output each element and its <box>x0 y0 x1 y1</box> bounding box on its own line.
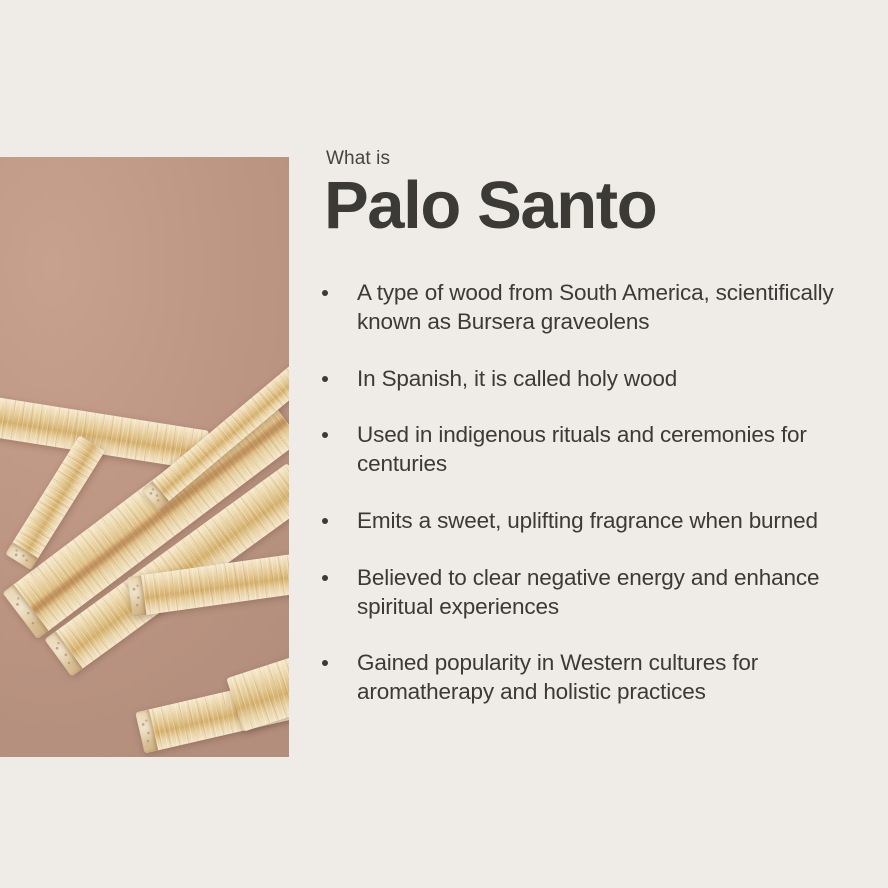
list-item: Used in indigenous rituals and ceremonie… <box>322 421 842 479</box>
palo-santo-photo <box>0 157 289 757</box>
list-item: A type of wood from South America, scien… <box>322 279 842 337</box>
list-item-text: Emits a sweet, uplifting fragrance when … <box>357 508 818 533</box>
infographic-canvas: What is Palo Santo A type of wood from S… <box>0 0 888 888</box>
bullet-dot-icon <box>322 376 328 382</box>
list-item: Emits a sweet, uplifting fragrance when … <box>322 507 842 536</box>
bullet-dot-icon <box>322 660 328 666</box>
list-item: In Spanish, it is called holy wood <box>322 365 842 394</box>
bullet-dot-icon <box>322 432 328 438</box>
list-item: Believed to clear negative energy and en… <box>322 564 842 622</box>
content-column: What is Palo Santo A type of wood from S… <box>322 148 842 707</box>
list-item: Gained popularity in Western cultures fo… <box>322 649 842 707</box>
bullet-dot-icon <box>322 518 328 524</box>
list-item-text: Believed to clear negative energy and en… <box>357 565 819 619</box>
list-item-text: A type of wood from South America, scien… <box>357 280 834 334</box>
bullet-dot-icon <box>322 290 328 296</box>
list-item-text: Gained popularity in Western cultures fo… <box>357 650 758 704</box>
list-item-text: Used in indigenous rituals and ceremonie… <box>357 422 807 476</box>
bullet-dot-icon <box>322 575 328 581</box>
list-item-text: In Spanish, it is called holy wood <box>357 366 677 391</box>
fact-list: A type of wood from South America, scien… <box>322 279 842 707</box>
kicker-text: What is <box>326 148 842 170</box>
page-title: Palo Santo <box>324 172 842 239</box>
